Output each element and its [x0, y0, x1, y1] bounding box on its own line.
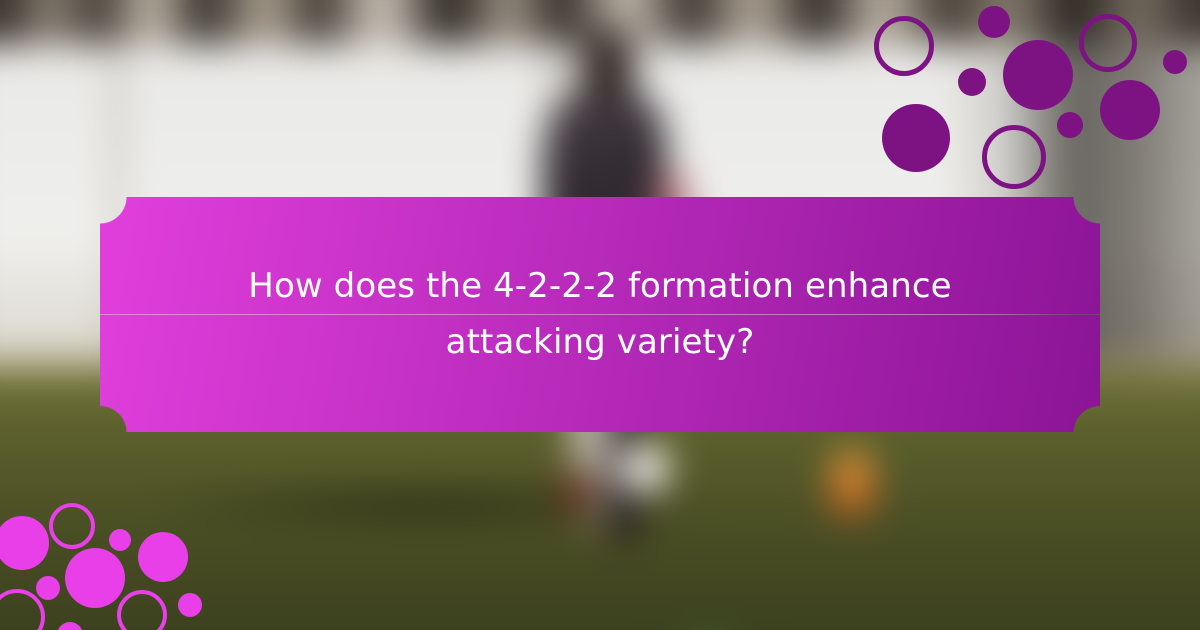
decorative-dot-filled: [1163, 50, 1187, 74]
decorative-dot-filled: [1057, 112, 1083, 138]
question-text: How does the 4-2-2-2 formation enhance a…: [230, 259, 970, 369]
player-boot: [556, 471, 596, 517]
decorative-dot-outline: [874, 16, 934, 76]
soccer-ball: [619, 443, 671, 495]
question-banner: How does the 4-2-2-2 formation enhance a…: [100, 197, 1100, 432]
decorative-circles-bottom-left: [0, 495, 230, 630]
decorative-dot-filled: [882, 104, 950, 172]
decorative-dot-outline: [1079, 14, 1137, 72]
decorative-dot-outline: [982, 125, 1046, 189]
decorative-dot-filled: [178, 593, 202, 617]
decorative-dot-filled: [958, 68, 986, 96]
decorative-dot-filled: [138, 532, 188, 582]
decorative-dot-outline: [117, 590, 167, 630]
share-card: How does the 4-2-2-2 formation enhance a…: [0, 0, 1200, 630]
decorative-dot-filled: [0, 516, 49, 570]
decorative-circles-top-right: [970, 0, 1200, 135]
training-cone: [830, 450, 874, 518]
decorative-dot-filled: [57, 622, 83, 630]
decorative-dot-filled: [978, 6, 1010, 38]
decorative-dot-filled: [109, 529, 131, 551]
decorative-dot-filled: [1100, 80, 1160, 140]
decorative-dot-filled: [1003, 40, 1073, 110]
decorative-dot-filled: [65, 548, 125, 608]
player-head: [578, 27, 636, 99]
decorative-dot-outline: [49, 503, 95, 549]
decorative-dot-filled: [36, 576, 60, 600]
